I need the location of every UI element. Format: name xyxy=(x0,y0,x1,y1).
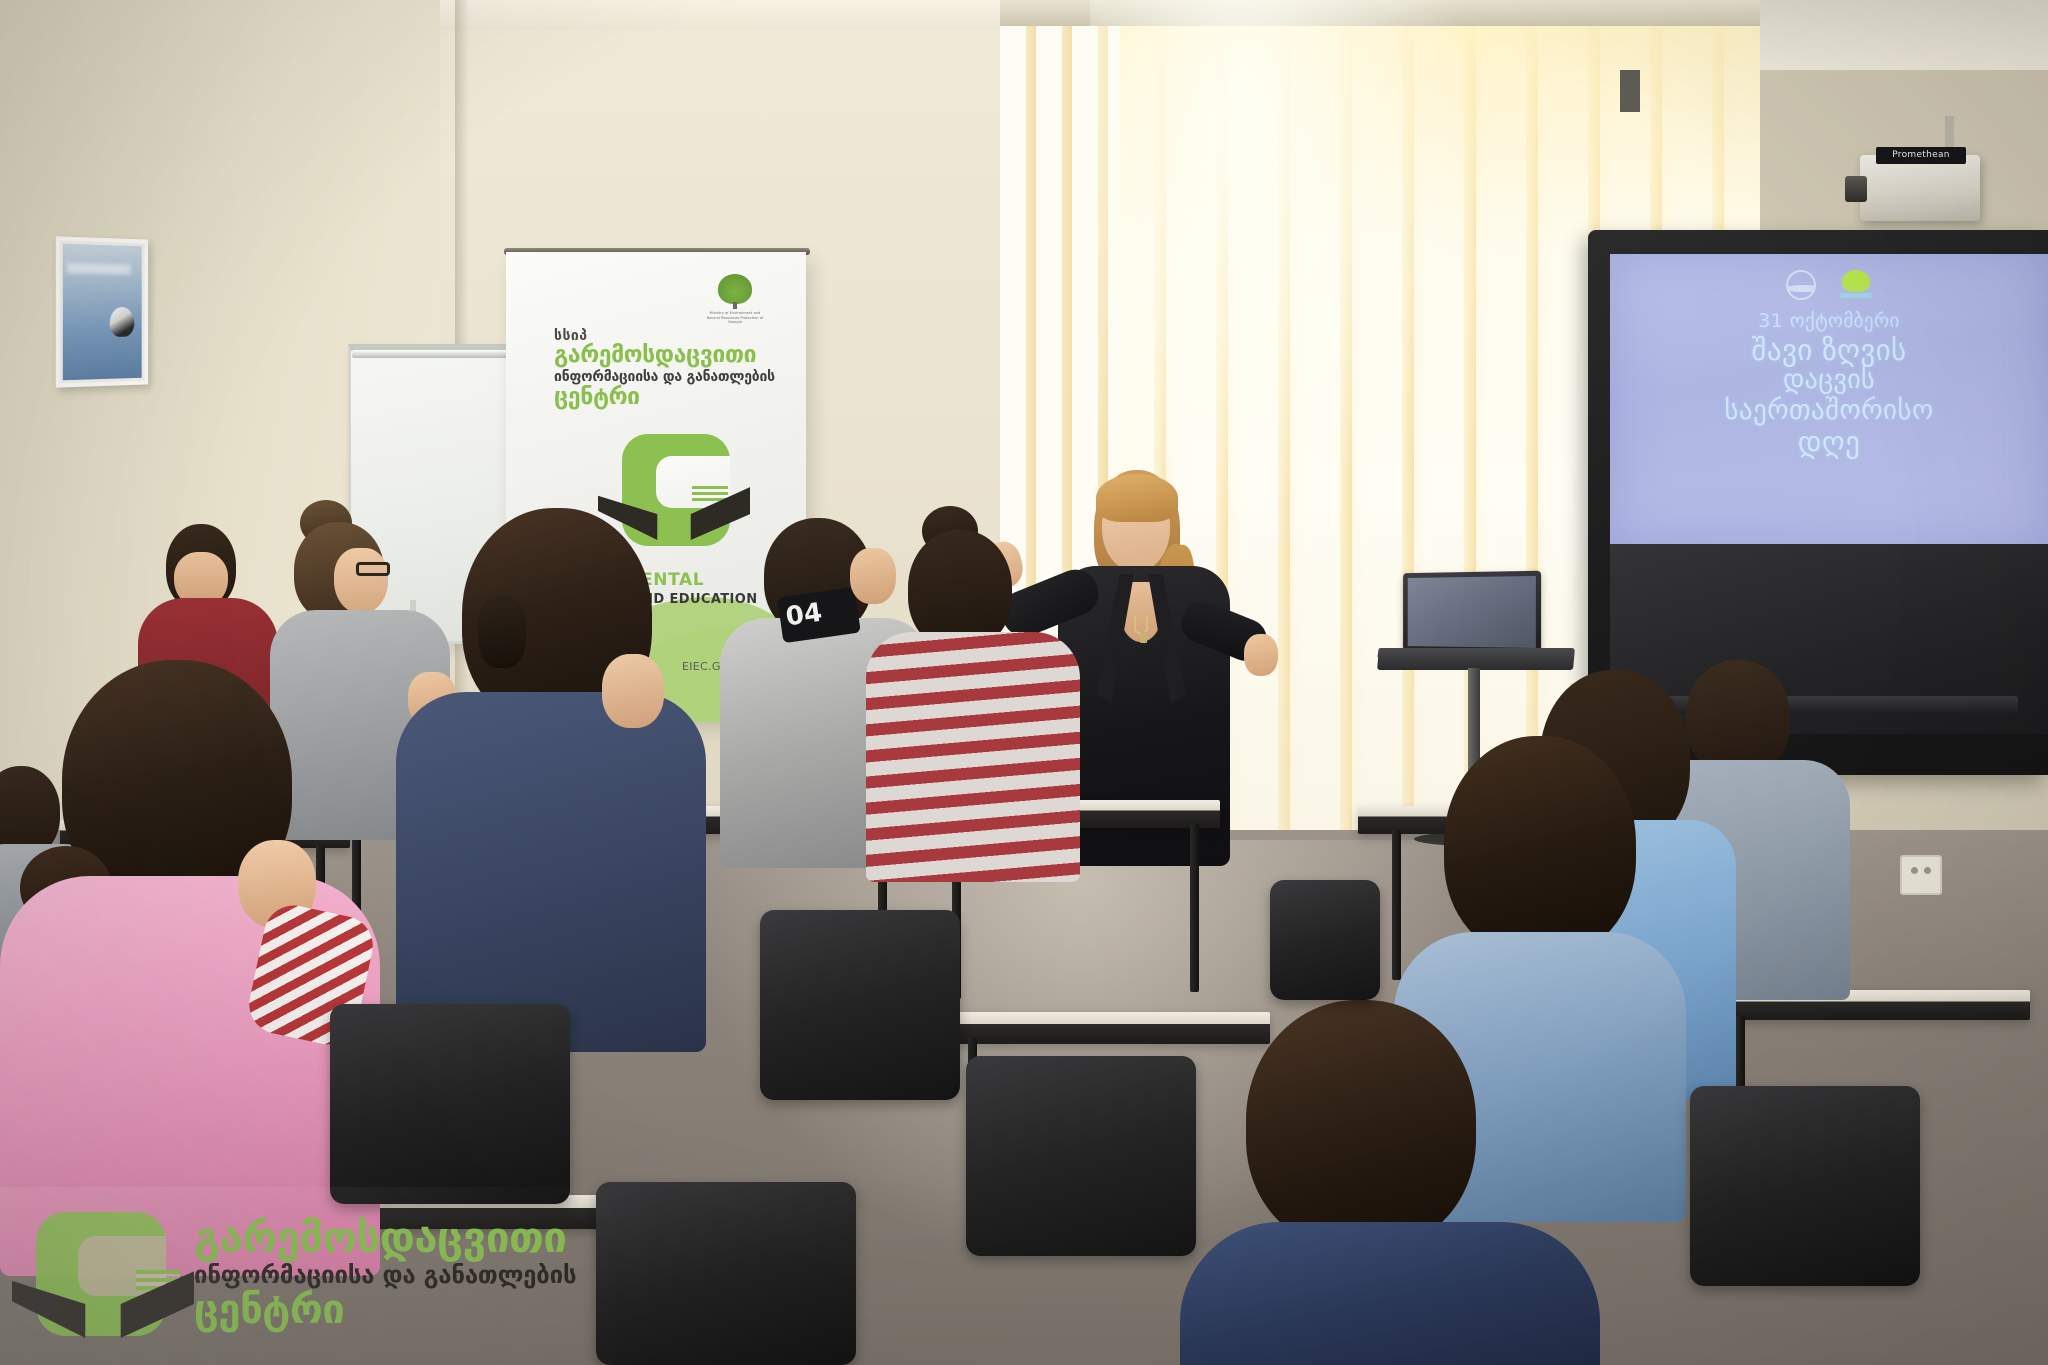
student-hair-clip xyxy=(478,596,526,668)
framed-seascape-photo xyxy=(56,236,148,387)
projected-slide: 31 ოქტომბერი შავი ზღვის დაცვის საერთაშორ… xyxy=(1610,254,2048,544)
watermark-line3: ცენტრი xyxy=(194,1289,576,1331)
slide-logo-row xyxy=(1610,270,2048,300)
chair xyxy=(760,910,960,1100)
whiteboard-top-bar xyxy=(352,350,522,358)
ministry-tree-icon xyxy=(718,274,752,304)
student-head xyxy=(1444,736,1636,958)
slide-date: 31 ოქტომბერი xyxy=(1618,310,2040,332)
presenter-hair-top xyxy=(1096,474,1178,522)
slide-line2: დაცვის xyxy=(1618,366,2040,395)
slide-line4: დღე xyxy=(1618,426,2040,458)
green-tree-icon xyxy=(1840,270,1872,300)
cap-number: 04 xyxy=(784,598,824,633)
lectern-top xyxy=(1377,648,1575,670)
blinds-rail xyxy=(1000,0,1760,26)
watermark-line1: გარემოსდაცვითი xyxy=(194,1216,576,1261)
laptop-screen[interactable] xyxy=(1403,571,1541,656)
presenter-hand-right xyxy=(1244,634,1278,676)
student-boy-navy-right xyxy=(1190,1000,1610,1365)
banner-line1: გარემოსდაცვითი xyxy=(554,342,794,368)
ministry-logo: Ministry of Environment and Natural Reso… xyxy=(706,274,764,328)
student-girl-striped-top xyxy=(880,506,1080,866)
slide-line3: საერთაშორისო xyxy=(1618,396,2040,426)
student-hand xyxy=(602,654,664,728)
banner-line2: ინფორმაციისა და განათლების xyxy=(554,369,794,385)
desk-leg xyxy=(1190,824,1199,992)
student-head xyxy=(1246,1000,1476,1250)
projector-lens xyxy=(1845,176,1867,202)
wave-circle-icon xyxy=(1786,270,1816,300)
chair xyxy=(966,1056,1196,1256)
ministry-caption: Ministry of Environment and Natural Reso… xyxy=(706,311,764,325)
banner-line3: ცენტრი xyxy=(554,384,794,410)
classroom-photo: Ministry of Environment and Natural Reso… xyxy=(0,0,2048,1365)
projection-screen[interactable]: 31 ოქტომბერი შავი ზღვის დაცვის საერთაშორ… xyxy=(1610,254,2048,544)
student-woman-blue-sweater xyxy=(420,508,750,1028)
presenter-necklace xyxy=(1134,616,1148,634)
banner-text-block: სსიპ გარემოსდაცვითი ინფორმაციისა და განა… xyxy=(554,328,794,410)
watermark-logo: გარემოსდაცვითი ინფორმაციისა და განათლები… xyxy=(0,1187,660,1365)
watermark-logo-mark xyxy=(26,1204,176,1344)
student-torso xyxy=(1180,1222,1600,1365)
watermark-open-book-icon xyxy=(12,1270,194,1340)
student-face xyxy=(334,548,388,614)
projector-brand-label: Promethean xyxy=(1876,147,1966,164)
watermark-text: გარემოსდაცვითი ინფორმაციისა და განათლები… xyxy=(194,1216,576,1331)
ceiling-projector xyxy=(1860,155,1980,221)
eyeglasses-icon xyxy=(356,562,390,576)
student-torso xyxy=(396,692,706,1052)
watermark-line2: ინფორმაციისა და განათლების xyxy=(194,1263,576,1288)
student-torso-striped xyxy=(866,632,1080,882)
slide-text-block: 31 ოქტომბერი შავი ზღვის დაცვის საერთაშორ… xyxy=(1618,310,2040,458)
wall-power-socket xyxy=(1900,855,1942,895)
chair xyxy=(1690,1086,1920,1286)
chair xyxy=(1270,880,1380,1000)
ceiling-bracket xyxy=(1620,70,1640,112)
slide-line1: შავი ზღვის xyxy=(1618,334,2040,366)
frame-artwork xyxy=(63,244,142,381)
chair xyxy=(330,1004,570,1204)
